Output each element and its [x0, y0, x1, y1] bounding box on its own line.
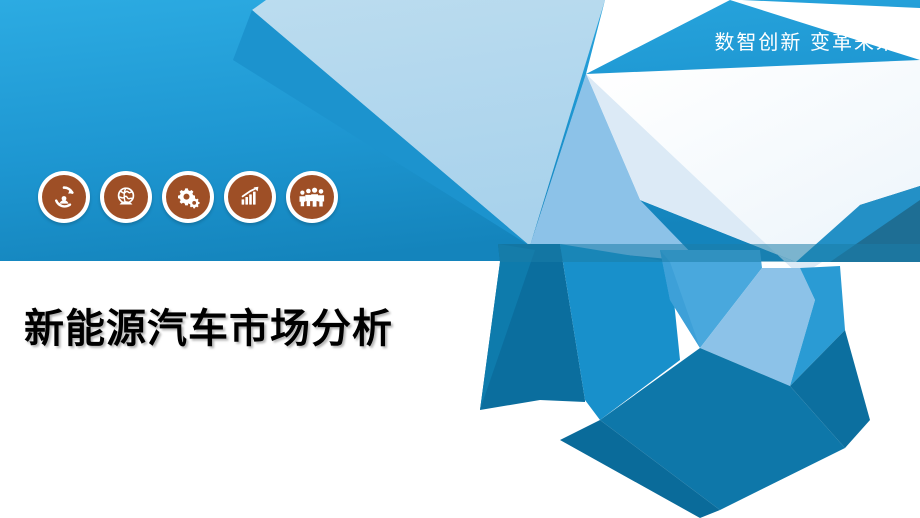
background-artwork — [0, 0, 920, 518]
page-title: 新能源汽车市场分析 — [24, 296, 393, 354]
presentation-title-slide: 数智创新 变革未来 — [0, 0, 920, 518]
icon-badge-recycle[interactable] — [38, 171, 90, 223]
people-group-icon — [290, 175, 334, 219]
icon-badge-people[interactable] — [286, 171, 338, 223]
slide-tagline: 数智创新 变革未来 — [714, 26, 898, 55]
feature-icon-strip — [38, 171, 338, 223]
icon-badge-globe[interactable] — [100, 171, 152, 223]
globe-icon — [104, 175, 148, 219]
icon-badge-bar-chart[interactable] — [224, 171, 276, 223]
gears-icon — [166, 175, 210, 219]
recycle-arrows-icon — [42, 175, 86, 219]
bar-chart-growth-icon — [228, 175, 272, 219]
icon-badge-gears[interactable] — [162, 171, 214, 223]
polygon-band-edge-strip — [498, 244, 920, 262]
